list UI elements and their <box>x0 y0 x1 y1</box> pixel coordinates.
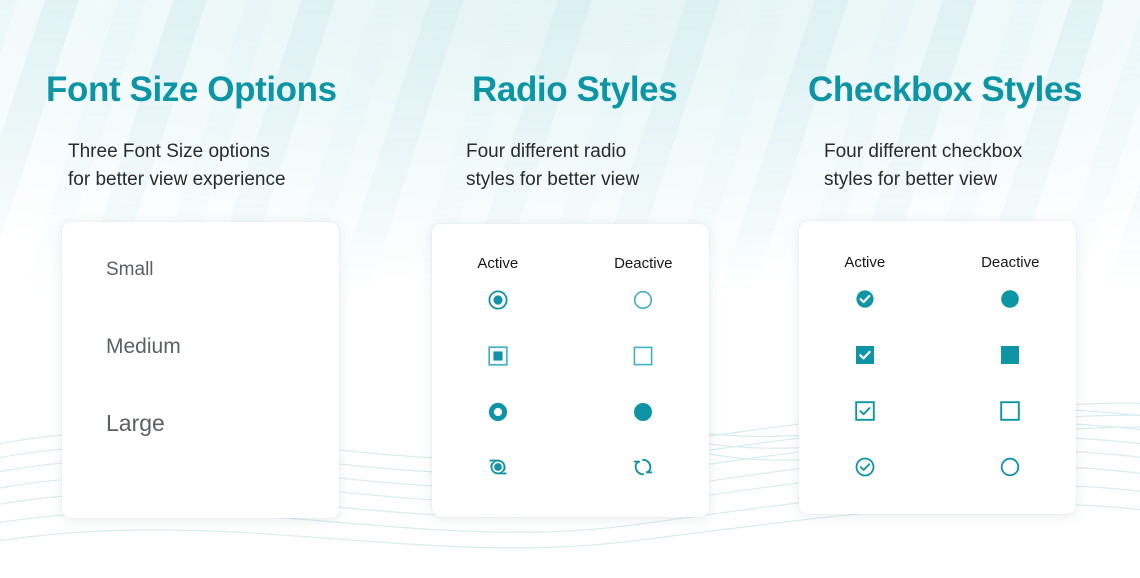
checkbox-circle-check-outline-icon[interactable] <box>854 456 876 478</box>
radio-ring-thick-icon[interactable] <box>487 401 509 423</box>
checkbox-table-header: Active Deactive <box>799 221 1076 271</box>
page-title-checkbox-styles: Checkbox Styles <box>790 0 1140 107</box>
card-font-size-options: Small Medium Large <box>62 222 339 518</box>
radio-table-header: Active Deactive <box>432 224 709 272</box>
radio-cell-active <box>432 401 572 423</box>
subtitle-line-1: Four different checkbox <box>824 138 1140 166</box>
radio-row <box>432 384 709 440</box>
section-radio-styles: Radio Styles Four different radio styles… <box>400 0 830 193</box>
radio-cell-deactive <box>572 345 710 367</box>
radio-row <box>432 440 709 496</box>
checkbox-square-check-filled-icon[interactable] <box>854 344 876 366</box>
checkbox-row <box>799 271 1076 327</box>
card-radio-styles: Active Deactive <box>432 224 709 517</box>
checkbox-row <box>799 439 1076 495</box>
checkbox-circle-solid-icon[interactable] <box>999 288 1021 310</box>
checkbox-cell-active <box>799 456 939 478</box>
page-title-font-size: Font Size Options <box>46 0 446 107</box>
checkbox-cell-deactive <box>939 344 1077 366</box>
radio-row <box>432 272 709 328</box>
radio-loop-outline-icon[interactable] <box>631 456 655 480</box>
checkbox-column-header-active: Active <box>799 254 939 271</box>
radio-cell-deactive <box>572 401 710 423</box>
checkbox-cell-deactive <box>939 400 1077 422</box>
radio-circle-solid-icon[interactable] <box>632 401 654 423</box>
radio-cell-active <box>432 345 572 367</box>
font-size-option-medium[interactable]: Medium <box>106 336 339 357</box>
subtitle-line-2: styles for better view <box>824 166 1140 194</box>
checkbox-cell-deactive <box>939 288 1077 310</box>
radio-circle-filled-dot-icon[interactable] <box>487 289 509 311</box>
checkbox-square-check-outline-icon[interactable] <box>854 400 876 422</box>
font-size-list: Small Medium Large <box>62 222 339 435</box>
radio-row <box>432 328 709 384</box>
checkbox-cell-deactive <box>939 456 1077 478</box>
checkbox-square-outline-icon[interactable] <box>999 400 1021 422</box>
subtitle-font-size: Three Font Size options for better view … <box>46 107 446 193</box>
radio-column-header-active: Active <box>432 255 572 272</box>
card-checkbox-styles: Active Deactive <box>799 221 1076 514</box>
radio-cell-active <box>432 456 572 480</box>
subtitle-line-1: Three Font Size options <box>68 138 446 166</box>
radio-circle-outline-icon[interactable] <box>632 289 654 311</box>
radio-square-outline-icon[interactable] <box>632 345 654 367</box>
radio-square-filled-inner-icon[interactable] <box>487 345 509 367</box>
radio-cell-active <box>432 289 572 311</box>
section-checkbox-styles: Checkbox Styles Four different checkbox … <box>770 0 1140 193</box>
checkbox-circle-outline-icon[interactable] <box>999 456 1021 478</box>
font-size-option-large[interactable]: Large <box>106 412 339 435</box>
subtitle-checkbox-styles: Four different checkbox styles for bette… <box>790 107 1140 193</box>
radio-cell-deactive <box>572 289 710 311</box>
checkbox-column-header-deactive: Deactive <box>939 254 1077 271</box>
checkbox-square-solid-icon[interactable] <box>999 344 1021 366</box>
subtitle-line-2: for better view experience <box>68 166 446 194</box>
checkbox-circle-check-filled-icon[interactable] <box>854 288 876 310</box>
page-root: Font Size Options Three Font Size option… <box>0 0 1140 578</box>
checkbox-cell-active <box>799 344 939 366</box>
checkbox-cell-active <box>799 400 939 422</box>
checkbox-cell-active <box>799 288 939 310</box>
radio-cell-deactive <box>572 456 710 480</box>
section-font-size: Font Size Options Three Font Size option… <box>0 0 446 193</box>
checkbox-row <box>799 327 1076 383</box>
radio-loop-filled-icon[interactable] <box>486 456 510 480</box>
radio-column-header-deactive: Deactive <box>572 255 710 272</box>
font-size-option-small[interactable]: Small <box>106 260 339 279</box>
checkbox-row <box>799 383 1076 439</box>
